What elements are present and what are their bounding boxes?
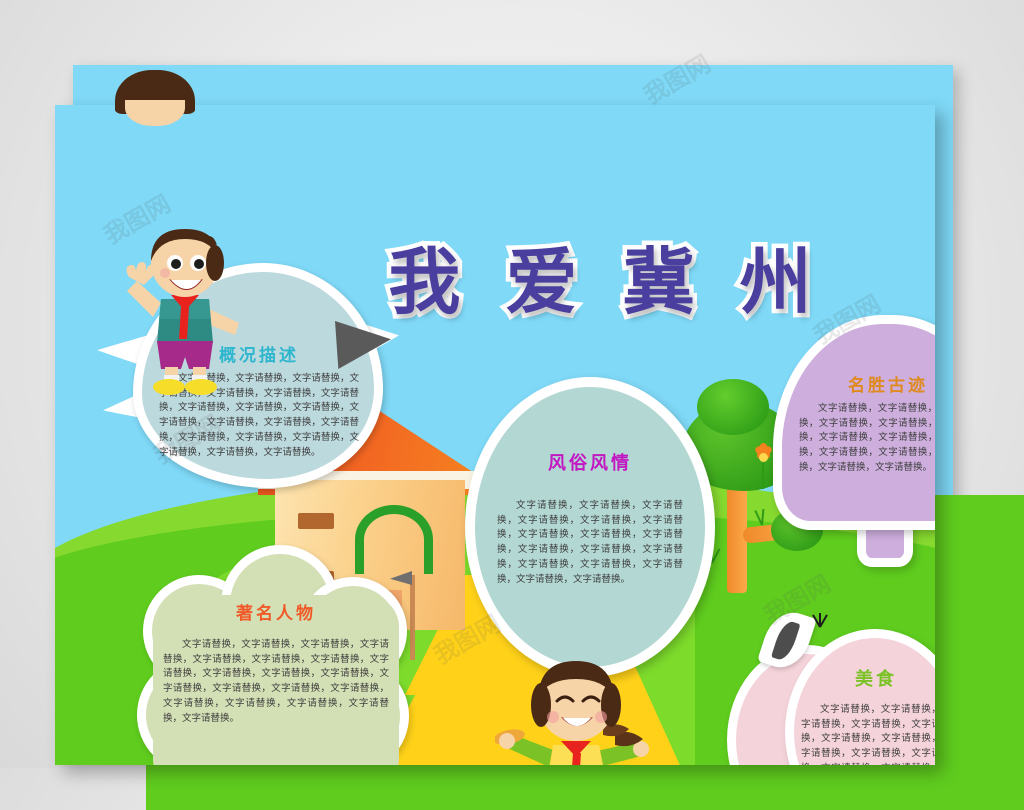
section-people[interactable]: 著名人物 文字请替换，文字请替换，文字请替换，文字请替换，文字请替换，文字请替换… [137, 545, 415, 765]
cheering-girl [495, 645, 655, 765]
people-body: 文字请替换，文字请替换，文字请替换，文字请替换，文字请替换，文字请替换，文字请替… [163, 638, 389, 726]
flower-center [759, 453, 768, 462]
peeking-boy-head [115, 70, 195, 118]
section-customs[interactable]: 风俗风情 文字请替换，文字请替换，文字请替换，文字请替换，文字请替换，文字请替换… [465, 377, 715, 677]
poster-title-text: 我 爱 冀 州 [388, 223, 821, 328]
scenic-title: 名胜古迹 [799, 371, 935, 396]
food-body: 文字请替换，文字请替换，文字请替换，文字请替换，文字请替换，文字请替换，文字请替… [801, 703, 935, 765]
poster-title: 我 爱 冀 州 [385, 223, 825, 333]
house-window-1 [298, 513, 334, 529]
girl-figure-icon [495, 645, 655, 765]
boy-figure-icon [123, 217, 253, 397]
customs-body: 文字请替换，文字请替换，文字请替换，文字请替换，文字请替换，文字请替换，文字请替… [497, 499, 683, 587]
section-scenic[interactable]: 名胜古迹 文字请替换，文字请替换，文字请替换，文字请替换，文字请替换，文字请替换… [773, 315, 935, 570]
scenic-body: 文字请替换，文字请替换，文字请替换，文字请替换，文字请替换，文字请替换，文字请替… [799, 402, 935, 476]
people-text-block: 著名人物 文字请替换，文字请替换，文字请替换，文字请替换，文字请替换，文字请替换… [163, 599, 389, 726]
scenic-stem-joint [865, 501, 905, 515]
people-title: 著名人物 [163, 599, 389, 624]
poster-stage: 我 爱 冀 州 概况描述 文字请替换，文字请替换，文字请替换，文字请替换，文字请… [0, 0, 1024, 768]
apple-sparkle-icon [805, 605, 835, 627]
main-poster-page: 我 爱 冀 州 概况描述 文字请替换，文字请替换，文字请替换，文字请替换，文字请… [55, 105, 935, 765]
waving-boy [123, 217, 253, 397]
section-food[interactable]: 美食 文字请替换，文字请替换，文字请替换，文字请替换，文字请替换，文字请替换，文… [727, 605, 935, 765]
food-text-block: 美食 文字请替换，文字请替换，文字请替换，文字请替换，文字请替换，文字请替换，文… [801, 665, 935, 765]
food-title: 美食 [801, 665, 935, 691]
flower-orange-icon [751, 445, 775, 469]
customs-title: 风俗风情 [497, 449, 683, 475]
scenic-text-block: 名胜古迹 文字请替换，文字请替换，文字请替换，文字请替换，文字请替换，文字请替换… [799, 371, 935, 476]
customs-text-block: 风俗风情 文字请替换，文字请替换，文字请替换，文字请替换，文字请替换，文字请替换… [497, 449, 683, 587]
